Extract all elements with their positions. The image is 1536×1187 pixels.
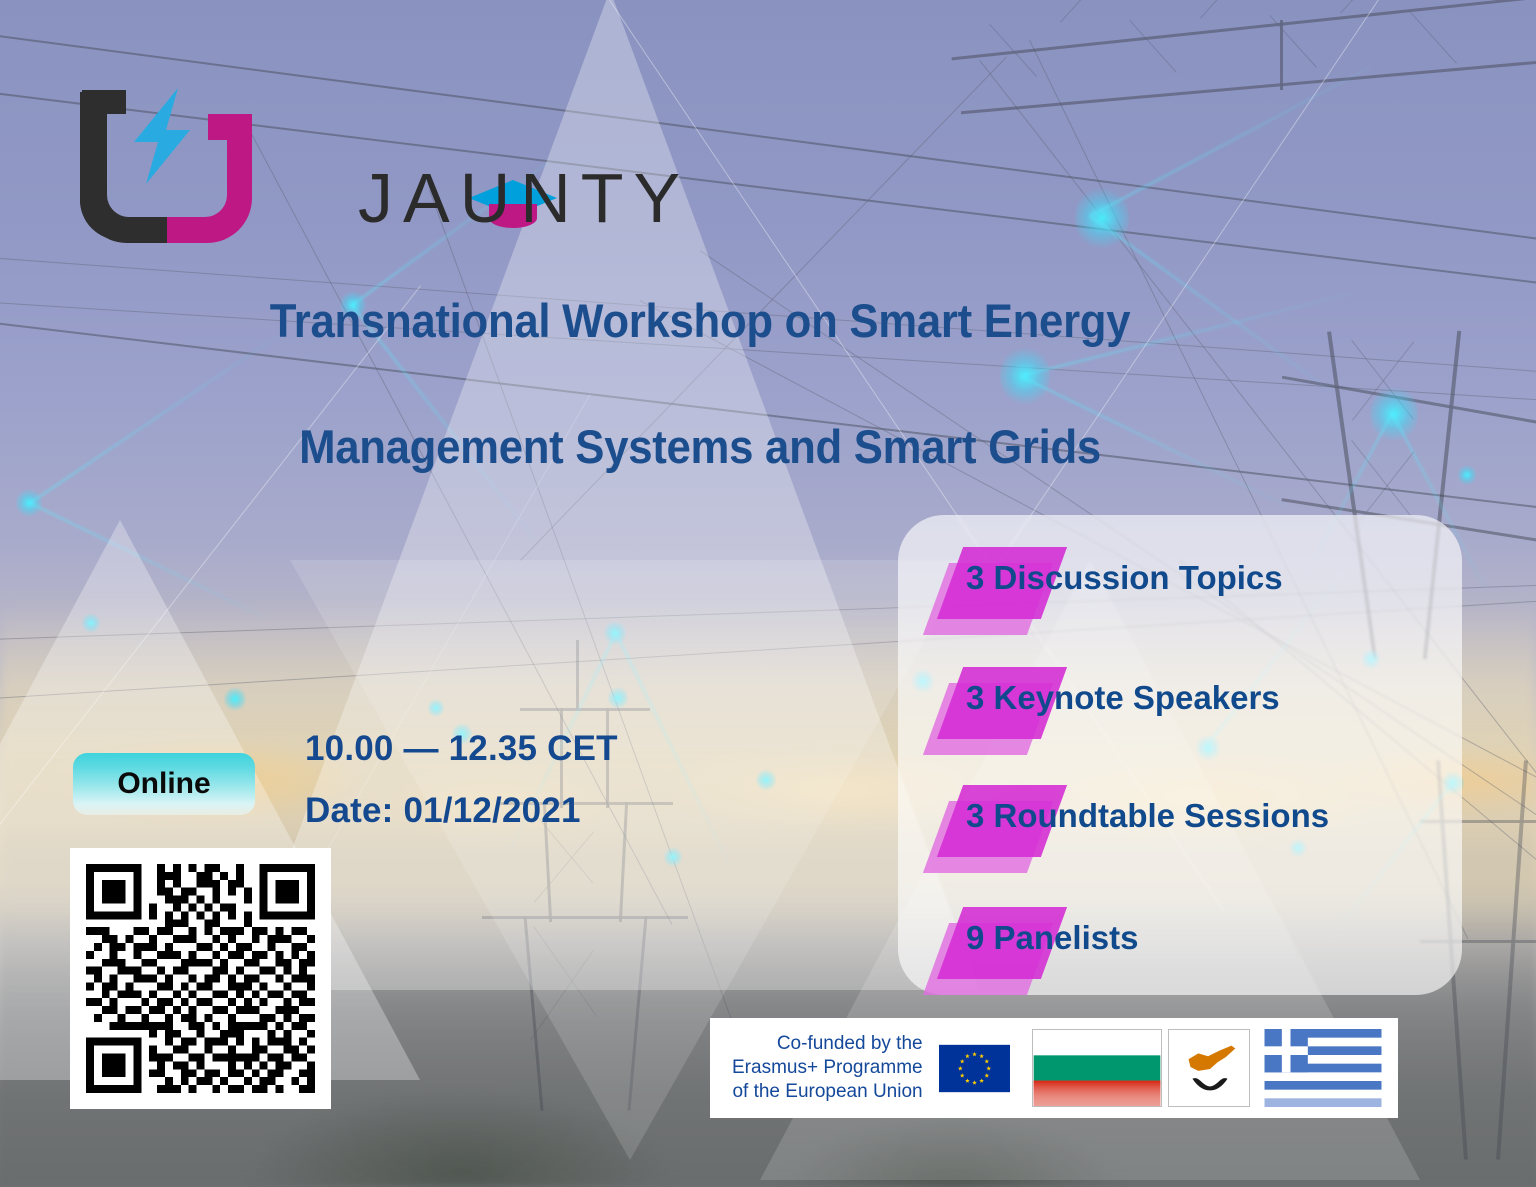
highlight-label: 9 Panelists xyxy=(966,920,1138,956)
registration-qr-code[interactable] xyxy=(86,864,315,1093)
event-schedule: 10.00 — 12.35 CET Date: 01/12/2021 xyxy=(305,731,618,828)
qr-code-panel[interactable] xyxy=(70,848,331,1109)
title-line-2: Management Systems and Smart Grids xyxy=(49,422,1351,472)
bulgaria-flag xyxy=(1032,1029,1162,1107)
funding-footer: Co-funded by the Erasmus+ Programme of t… xyxy=(710,1018,1398,1118)
highlight-label: 3 Keynote Speakers xyxy=(966,680,1280,716)
highlight-label: 3 Roundtable Sessions xyxy=(966,798,1329,834)
online-badge-label: Online xyxy=(117,767,210,801)
event-time: 10.00 — 12.35 CET xyxy=(305,731,618,766)
title-line-1: Transnational Workshop on Smart Energy xyxy=(49,296,1351,346)
page-title: Transnational Workshop on Smart Energy M… xyxy=(0,296,1400,472)
erasmus-text-line-3: of the European Union xyxy=(732,1080,923,1104)
eu-flag xyxy=(939,1044,1010,1093)
partner-country-flags xyxy=(1024,1018,1398,1118)
greece-flag xyxy=(1256,1029,1390,1107)
erasmus-text-line-1: Co-funded by the xyxy=(732,1032,923,1056)
highlight-label: 3 Discussion Topics xyxy=(966,560,1283,596)
highlights-card: 3 Discussion Topics 3 Keynote Speakers 3… xyxy=(898,515,1462,995)
erasmus-text-line-2: Erasmus+ Programme xyxy=(732,1056,923,1080)
online-mode-badge: Online xyxy=(73,753,255,815)
jaunty-wordmark: JAUNTY xyxy=(358,163,690,233)
event-poster: JAUNTY Transnational Workshop on Smart E… xyxy=(0,0,1536,1187)
pylon-top-right xyxy=(950,0,1536,150)
erasmus-logo: Co-funded by the Erasmus+ Programme of t… xyxy=(710,1018,1024,1118)
erasmus-text: Co-funded by the Erasmus+ Programme of t… xyxy=(732,1032,923,1105)
jaunty-logo[interactable]: JAUNTY xyxy=(72,78,632,248)
jaunty-u-bolt-logo xyxy=(72,86,262,246)
cyprus-flag xyxy=(1168,1029,1250,1107)
event-date: Date: 01/12/2021 xyxy=(305,793,618,828)
